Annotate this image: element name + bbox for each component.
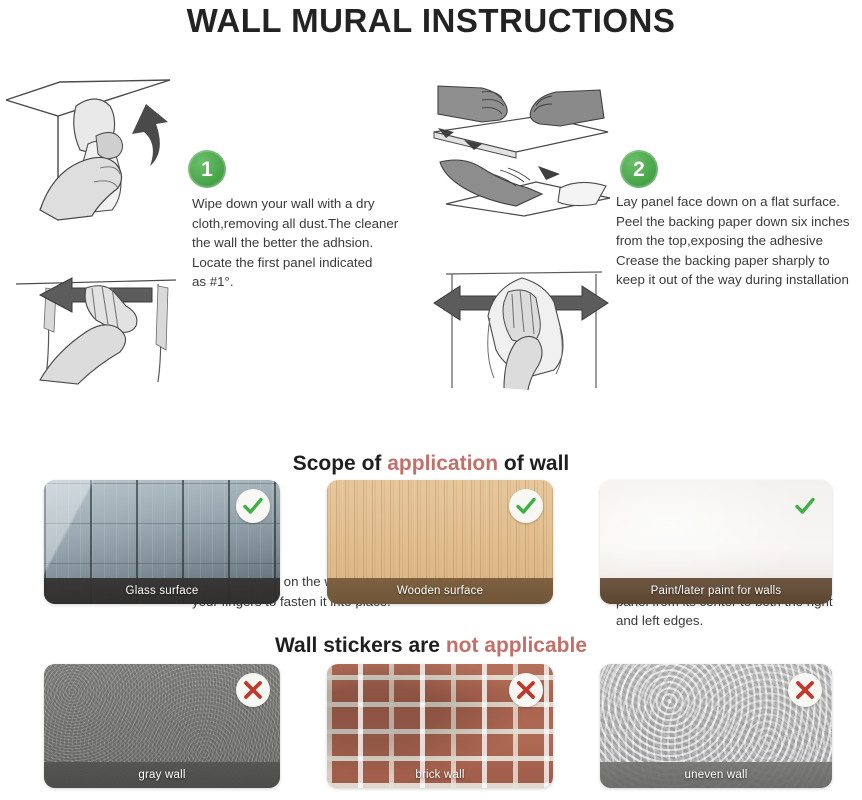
card-caption: uneven wall	[600, 762, 832, 788]
surface-card-paint: Paint/later paint for walls	[600, 480, 832, 604]
not-applicable-heading: Wall stickers are not applicable	[0, 634, 862, 658]
card-caption: Glass surface	[44, 578, 280, 604]
applicable-heading: Scope of application of wall	[0, 452, 862, 476]
check-icon	[236, 489, 270, 523]
surface-card-brick-wall: brick wall	[327, 664, 553, 788]
card-caption: Paint/later paint for walls	[600, 578, 832, 604]
surface-card-gray-wall: gray wall	[44, 664, 280, 788]
applicable-heading-before: Scope of	[293, 452, 388, 475]
not-applicable-heading-highlight: not applicable	[446, 634, 587, 657]
card-caption: brick wall	[327, 762, 553, 788]
not-applicable-heading-before: Wall stickers are	[275, 634, 446, 657]
instruction-step-3: 3 Align the panel on the wall and use yo…	[0, 258, 420, 403]
surface-card-wooden: Wooden surface	[327, 480, 553, 604]
step-2-badge: 2	[620, 150, 658, 188]
step-3-illustration	[0, 258, 185, 388]
cross-icon	[509, 673, 543, 707]
cross-icon	[788, 673, 822, 707]
check-icon	[788, 489, 822, 523]
surface-card-uneven-wall: uneven wall	[600, 664, 832, 788]
applicable-heading-after: of wall	[498, 452, 569, 475]
step-1-illustration	[0, 70, 185, 230]
check-icon	[509, 489, 543, 523]
surface-card-glass: Glass surface	[44, 480, 280, 604]
instruction-step-4: 4 Using a dry towel,firmly brush the pan…	[420, 258, 862, 403]
step-2-illustration	[420, 70, 616, 220]
step-1-badge: 1	[188, 150, 226, 188]
instruction-step-2: 2 Lay panel face down on a flat surface.…	[420, 70, 862, 245]
step-4-illustration	[420, 258, 616, 390]
instruction-sheet: WALL MURAL INSTRUCTIONS 1 Wipe down your…	[0, 0, 862, 800]
card-caption: Wooden surface	[327, 578, 553, 604]
applicable-heading-highlight: application	[387, 452, 498, 475]
card-caption: gray wall	[44, 762, 280, 788]
cross-icon	[236, 673, 270, 707]
page-title: WALL MURAL INSTRUCTIONS	[0, 2, 862, 40]
instruction-step-1: 1 Wipe down your wall with a dry cloth,r…	[0, 70, 420, 245]
